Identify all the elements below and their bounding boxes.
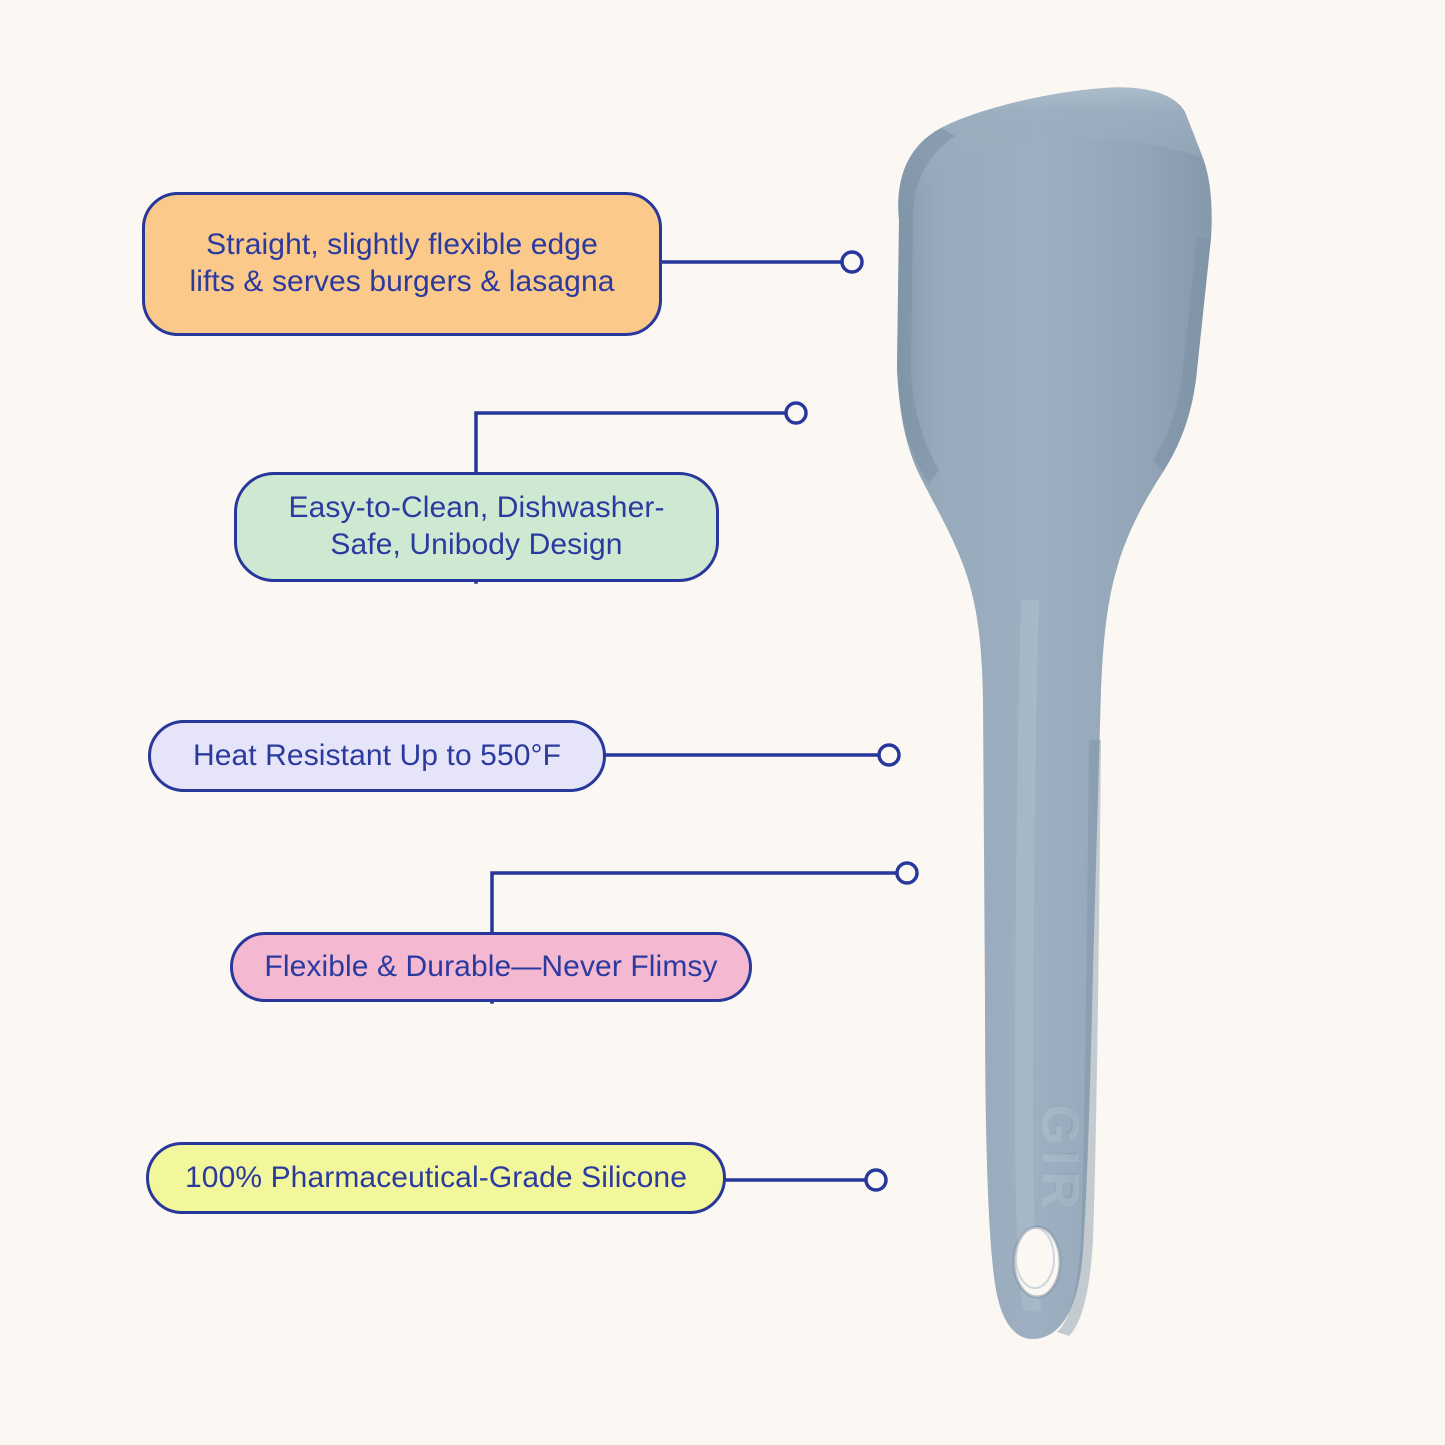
callout-box-heat[interactable]: Heat Resistant Up to 550°F xyxy=(148,720,606,792)
callout-text-clean: Easy-to-Clean, Dishwasher- Safe, Unibody… xyxy=(288,490,664,563)
connector-endpoint-silicone xyxy=(866,1170,886,1190)
callout-box-silicone[interactable]: 100% Pharmaceutical-Grade Silicone xyxy=(146,1142,726,1214)
callout-box-clean[interactable]: Easy-to-Clean, Dishwasher- Safe, Unibody… xyxy=(234,472,719,582)
callout-text-edge: Straight, slightly flexible edge lifts &… xyxy=(189,227,614,300)
infographic-canvas: GIR GIR xyxy=(0,0,1445,1445)
connector-endpoint-heat xyxy=(879,745,899,765)
connector-endpoint-flexible xyxy=(897,863,917,883)
callout-text-silicone: 100% Pharmaceutical-Grade Silicone xyxy=(185,1160,687,1197)
callout-box-edge[interactable]: Straight, slightly flexible edge lifts &… xyxy=(142,192,662,336)
connector-endpoint-edge xyxy=(842,252,862,272)
callout-box-flexible[interactable]: Flexible & Durable—Never Flimsy xyxy=(230,932,752,1002)
callout-text-flexible: Flexible & Durable—Never Flimsy xyxy=(264,949,717,986)
callout-text-heat: Heat Resistant Up to 550°F xyxy=(193,738,561,775)
connector-endpoint-clean xyxy=(786,403,806,423)
